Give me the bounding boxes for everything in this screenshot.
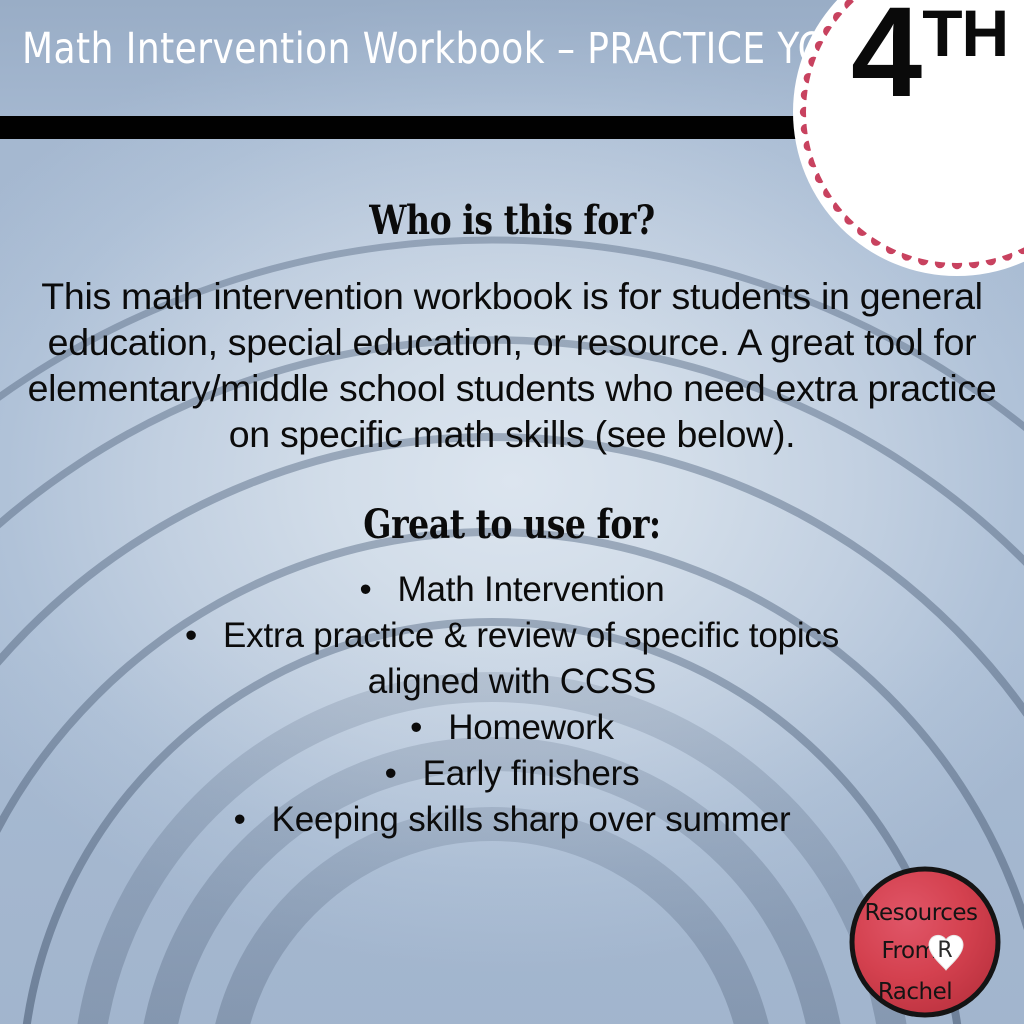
main-content: Who is this for? This math intervention … [0,139,1024,843]
heading-who-is-this-for: Who is this for? [41,201,983,241]
logo-heart-letter: R [937,938,952,963]
bullet-dot-icon: • [185,613,197,659]
description-paragraph: This math intervention workbook is for s… [22,273,1002,457]
bullet-dot-icon: • [359,567,371,613]
list-item: •Homework [22,705,1002,751]
logo-text-line2: From [882,938,937,964]
list-item-label-cont: aligned with CCSS [22,659,1002,705]
grade-suffix: TH [922,0,1008,66]
grade-number: 4 [851,0,920,112]
bullet-dot-icon: • [410,705,422,751]
brand-logo: Resources From Rachel R [845,862,1005,1022]
logo-text-line1: Resources [865,900,978,926]
bullet-dot-icon: • [385,751,397,797]
heading-great-to-use-for: Great to use for: [41,505,983,545]
bullet-dot-icon: • [234,797,246,843]
list-item: •Math Intervention [22,567,1002,613]
list-item-label: Early finishers [423,754,640,793]
product-cover: Math Intervention Workbook – PRACTICE YO… [0,0,1024,1024]
uses-list: •Math Intervention •Extra practice & rev… [22,567,1002,843]
list-item: •Extra practice & review of specific top… [22,613,1002,705]
list-item-label: Homework [448,708,614,747]
list-item: •Keeping skills sharp over summer [22,797,1002,843]
logo-text-line3: Rachel [878,979,952,1005]
page-title: Math Intervention Workbook – PRACTICE YO… [22,28,738,71]
list-item-label: Extra practice & review of specific topi… [223,616,839,655]
list-item-label: Keeping skills sharp over summer [272,800,791,839]
list-item: •Early finishers [22,751,1002,797]
grade-label: 4 TH [851,0,1008,112]
list-item-label: Math Intervention [398,570,665,609]
